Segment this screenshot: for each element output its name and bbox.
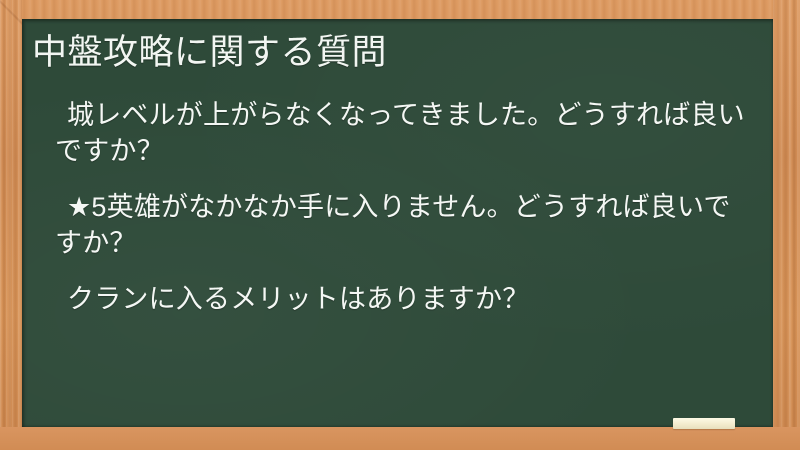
frame-ledge-bottom [0,427,800,450]
frame-rail-right [773,0,800,450]
question-list: 城レベルが上がらなくなってきました。どうすれば良いですか？ ★5英雄がなかなか手… [55,98,755,318]
chalkboard-surface: 中盤攻略に関する質問 城レベルが上がらなくなってきました。どうすれば良いですか？… [22,19,773,427]
chalk-stick [673,418,735,429]
slide-root: 中盤攻略に関する質問 城レベルが上がらなくなってきました。どうすれば良いですか？… [0,0,800,450]
list-item: ★5英雄がなかなか手に入りません。どうすれば良いですか？ [55,190,755,261]
page-title: 中盤攻略に関する質問 [32,33,387,73]
list-item: 城レベルが上がらなくなってきました。どうすれば良いですか？ [55,98,755,169]
frame-rail-left [0,0,22,450]
list-item: クランに入るメリットはありますか？ [55,282,755,318]
